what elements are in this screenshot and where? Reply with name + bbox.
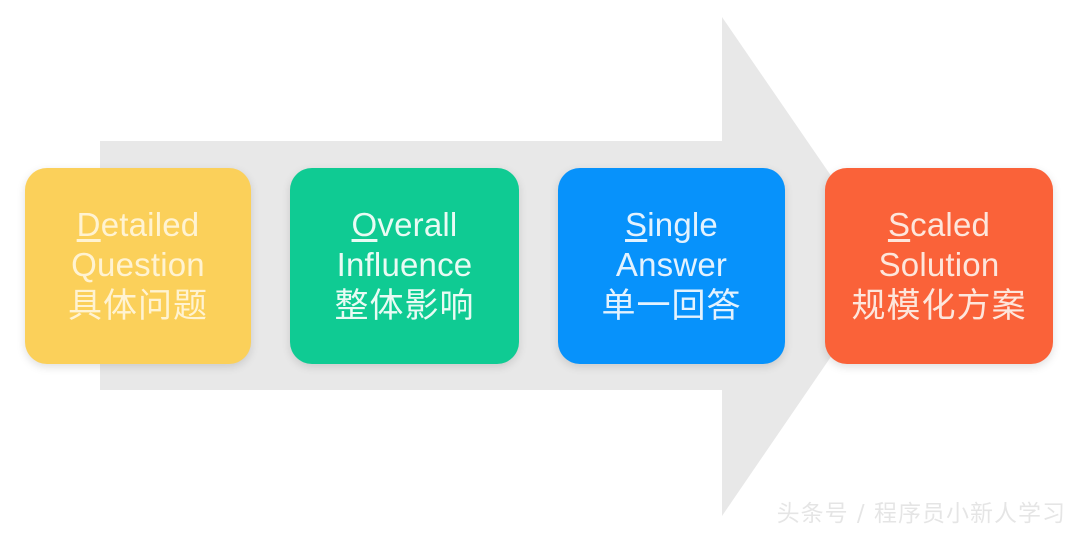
step-card-initial-letter: D (77, 206, 101, 243)
step-card-cn-line: 规模化方案 (825, 286, 1053, 327)
step-card-scaled-solution[interactable]: Scaled Solution 规模化方案 (825, 168, 1053, 364)
step-card-en-line-1-rest: etailed (101, 206, 200, 243)
step-card-cn-line: 具体问题 (25, 286, 251, 327)
step-card-initial-letter: S (625, 206, 647, 243)
step-card-en-line-1-rest: ingle (647, 206, 718, 243)
step-card-en-line-1: Overall (290, 205, 519, 245)
step-card-detailed-question[interactable]: Detailed Question 具体问题 (25, 168, 251, 364)
step-card-en-line-1: Scaled (825, 205, 1053, 245)
step-card-en-line-2: Solution (825, 245, 1053, 285)
slide-canvas: Detailed Question 具体问题 Overall Influence… (0, 0, 1080, 536)
step-card-initial-letter: S (888, 206, 910, 243)
step-card-en-line-2: Influence (290, 245, 519, 285)
step-card-single-answer[interactable]: Single Answer 单一回答 (558, 168, 785, 364)
step-card-initial-letter: O (352, 206, 378, 243)
watermark: 头条号 / 程序员小新人学习 (777, 494, 1066, 528)
step-card-overall-influence[interactable]: Overall Influence 整体影响 (290, 168, 519, 364)
step-card-en-line-1: Single (558, 205, 785, 245)
step-card-en-line-1: Detailed (25, 205, 251, 245)
step-card-cn-line: 单一回答 (558, 286, 785, 327)
step-card-en-line-1-rest: verall (377, 206, 457, 243)
step-card-cn-line: 整体影响 (290, 286, 519, 327)
step-card-en-line-2: Answer (558, 245, 785, 285)
step-card-en-line-1-rest: caled (910, 206, 990, 243)
step-card-en-line-2: Question (25, 245, 251, 285)
